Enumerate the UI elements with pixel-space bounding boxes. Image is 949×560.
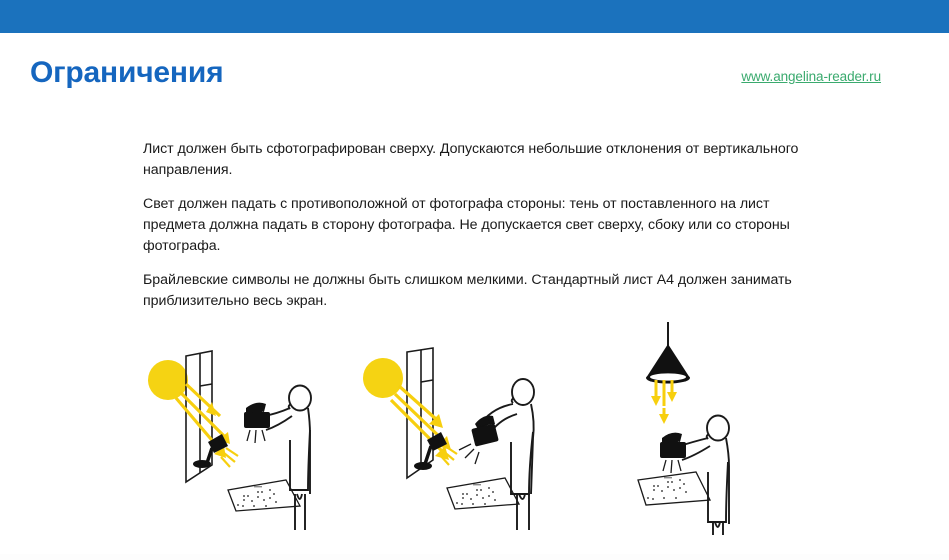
camera-icon [660, 433, 686, 473]
figure-ceiling-lamp-photographer [600, 320, 800, 535]
bottom-edge-strip [0, 554, 949, 560]
paragraph-3: Брайлевские символы не должны быть слишк… [143, 270, 815, 312]
figure-sun-window-lamp-photographer-front [140, 320, 340, 535]
ceiling-lamp-icon [646, 322, 690, 384]
page-title: Ограничения [30, 56, 223, 90]
braille-sheet-icon [447, 478, 519, 509]
sun-icon [363, 358, 403, 398]
paragraph-2: Свет должен падать с противоположной от … [143, 194, 815, 257]
illustrations-row [0, 320, 949, 545]
website-link[interactable]: www.angelina-reader.ru [741, 69, 881, 84]
camera-icon [459, 416, 499, 464]
presentation-slide: Ограничения www.angelina-reader.ru Лист … [0, 0, 949, 560]
figure-sun-window-lamp-photographer-tilted [355, 320, 555, 535]
paragraph-1: Лист должен быть сфотографирован сверху.… [143, 139, 815, 181]
photographer-icon [479, 379, 534, 530]
body-text-block: Лист должен быть сфотографирован сверху.… [143, 139, 815, 325]
top-blue-bar [0, 0, 949, 33]
braille-sheet-icon [638, 472, 710, 505]
camera-icon [244, 403, 270, 443]
